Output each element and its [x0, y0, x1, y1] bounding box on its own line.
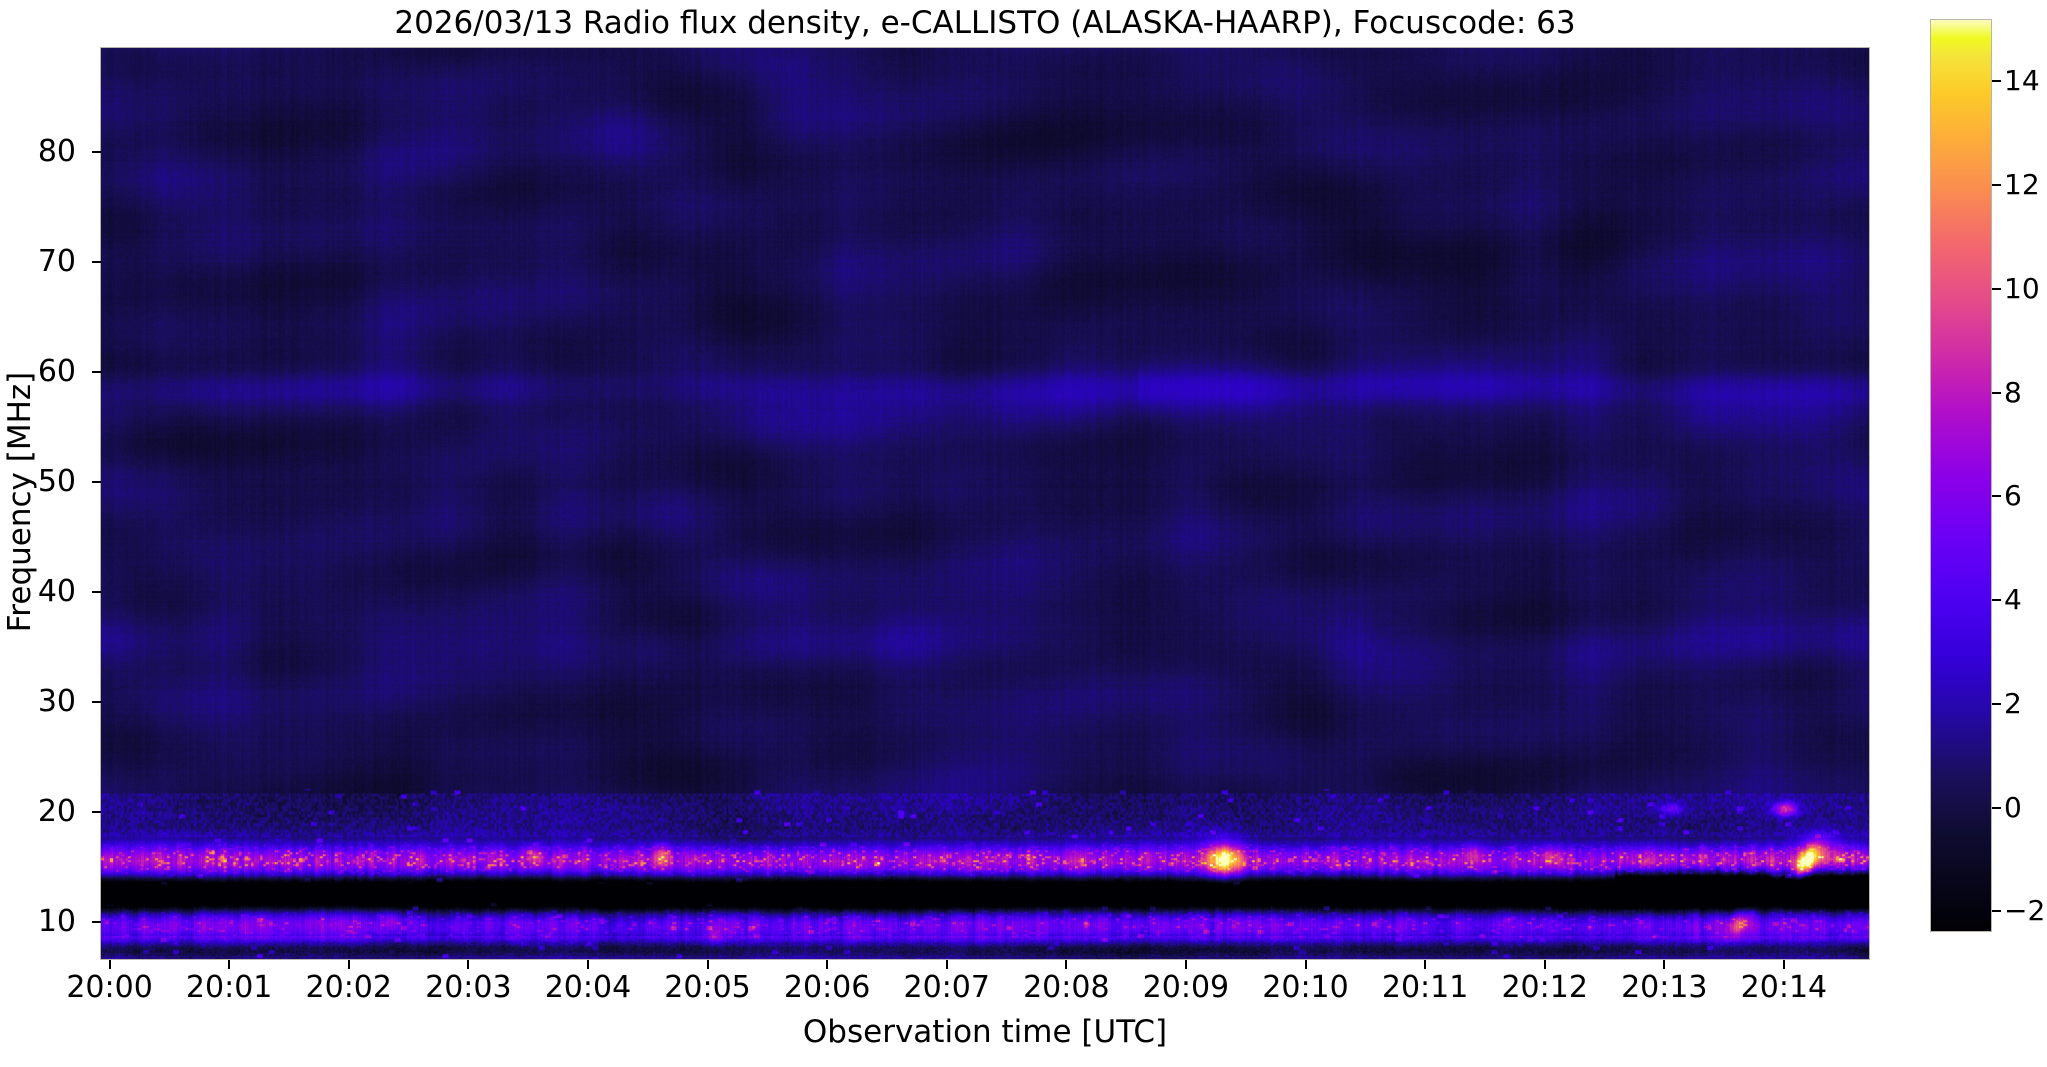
colorbar-tick-mark	[1992, 392, 2001, 394]
colorbar-tick-label: 14	[2004, 67, 2040, 95]
y-tick-mark	[92, 921, 101, 923]
chart-title: 2026/03/13 Radio flux density, e-CALLIST…	[100, 4, 1870, 42]
x-axis-label: Observation time [UTC]	[100, 1014, 1870, 1050]
spectrogram-image	[101, 48, 1869, 959]
x-tick-mark	[1185, 960, 1187, 969]
x-tick-mark	[1544, 960, 1546, 969]
y-tick-label: 80	[20, 137, 76, 167]
colorbar-tick-mark	[1992, 495, 2001, 497]
y-tick-mark	[92, 481, 101, 483]
y-tick-label: 30	[20, 687, 76, 717]
colorbar-tick-mark	[1992, 288, 2001, 290]
colorbar-tick-label: −2	[2004, 897, 2045, 925]
y-tick-mark	[92, 261, 101, 263]
spectrogram-axes	[100, 47, 1870, 960]
colorbar-tick-label: 6	[2004, 482, 2022, 510]
y-tick-mark	[92, 371, 101, 373]
x-tick-mark	[1305, 960, 1307, 969]
colorbar	[1930, 19, 1992, 932]
colorbar-tick-mark	[1992, 599, 2001, 601]
colorbar-tick-mark	[1992, 80, 2001, 82]
y-tick-mark	[92, 151, 101, 153]
colorbar-tick-mark	[1992, 807, 2001, 809]
colorbar-tick-label: 0	[2004, 794, 2022, 822]
x-tick-mark	[109, 960, 111, 969]
x-tick-mark	[1783, 960, 1785, 969]
y-tick-mark	[92, 701, 101, 703]
x-tick-mark	[467, 960, 469, 969]
y-tick-mark	[92, 591, 101, 593]
x-tick-mark	[826, 960, 828, 969]
colorbar-tick-label: 10	[2004, 275, 2040, 303]
y-tick-label: 10	[20, 907, 76, 937]
colorbar-tick-label: 8	[2004, 379, 2022, 407]
x-tick-mark	[228, 960, 230, 969]
y-axis-label: Frequency [MHz]	[2, 322, 38, 682]
y-tick-mark	[92, 811, 101, 813]
x-tick-mark	[1424, 960, 1426, 969]
colorbar-tick-mark	[1992, 910, 2001, 912]
colorbar-tick-label: 12	[2004, 171, 2040, 199]
x-tick-mark	[587, 960, 589, 969]
colorbar-tick-label: 4	[2004, 586, 2022, 614]
colorbar-tick-mark	[1992, 703, 2001, 705]
spectrogram-figure: 2026/03/13 Radio flux density, e-CALLIST…	[0, 0, 2047, 1067]
y-tick-label: 20	[20, 797, 76, 827]
x-tick-mark	[1065, 960, 1067, 969]
x-tick-mark	[348, 960, 350, 969]
x-tick-mark	[946, 960, 948, 969]
x-tick-mark	[1663, 960, 1665, 969]
x-tick-mark	[707, 960, 709, 969]
y-tick-label: 70	[20, 247, 76, 277]
x-tick-label: 20:14	[1704, 972, 1864, 1004]
colorbar-tick-mark	[1992, 184, 2001, 186]
colorbar-tick-label: 2	[2004, 690, 2022, 718]
colorbar-gradient	[1930, 19, 1992, 932]
